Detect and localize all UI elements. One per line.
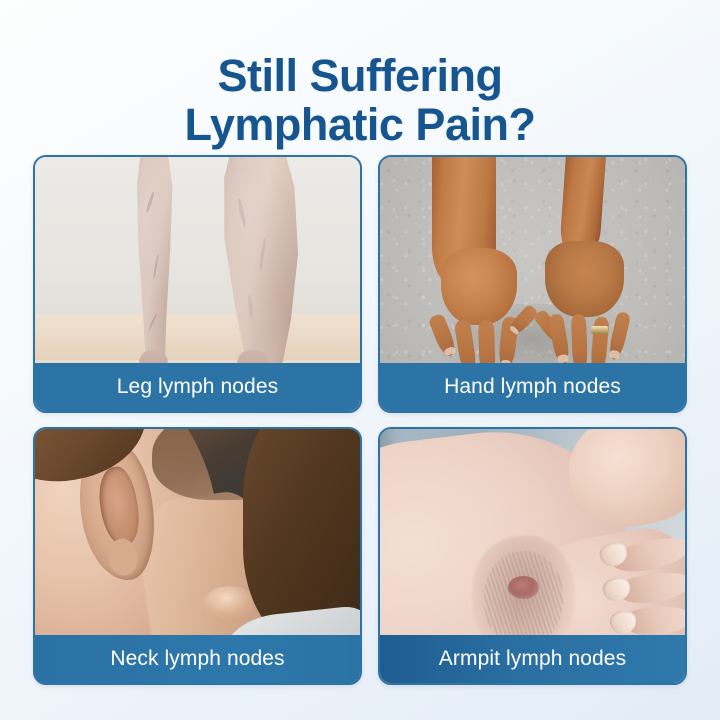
armpit-hair-texture — [484, 551, 563, 648]
card-caption-neck: Neck lymph nodes — [35, 635, 360, 683]
card-caption-armpit: Armpit lymph nodes — [380, 635, 685, 683]
page-title: Still Suffering Lymphatic Pain? — [0, 52, 720, 149]
ear-lobe — [106, 536, 139, 577]
symptom-card-hand[interactable]: Hand lymph nodes — [378, 155, 687, 413]
symptom-card-leg[interactable]: Leg lymph nodes — [33, 155, 362, 413]
swollen-armpit-lymph-node — [508, 576, 539, 599]
symptom-card-neck[interactable]: Neck lymph nodes — [33, 427, 362, 685]
symptom-card-grid: Leg lymph nodes — [33, 155, 687, 685]
wall-baseboard — [35, 314, 360, 360]
headline-line-2: Lymphatic Pain? — [0, 101, 720, 150]
lymphatic-pain-poster: Still Suffering Lymphatic Pain? — [0, 0, 720, 720]
headline-line-1: Still Suffering — [0, 52, 720, 101]
gold-ring — [591, 326, 608, 334]
symptom-card-armpit[interactable]: Armpit lymph nodes — [378, 427, 687, 685]
card-caption-leg: Leg lymph nodes — [35, 363, 360, 411]
bathroom-wall — [35, 157, 360, 314]
card-caption-hand: Hand lymph nodes — [380, 363, 685, 411]
normal-hand — [545, 241, 624, 317]
fingernail — [609, 350, 620, 360]
ear-inner — [95, 465, 143, 549]
swollen-hand — [441, 248, 517, 324]
